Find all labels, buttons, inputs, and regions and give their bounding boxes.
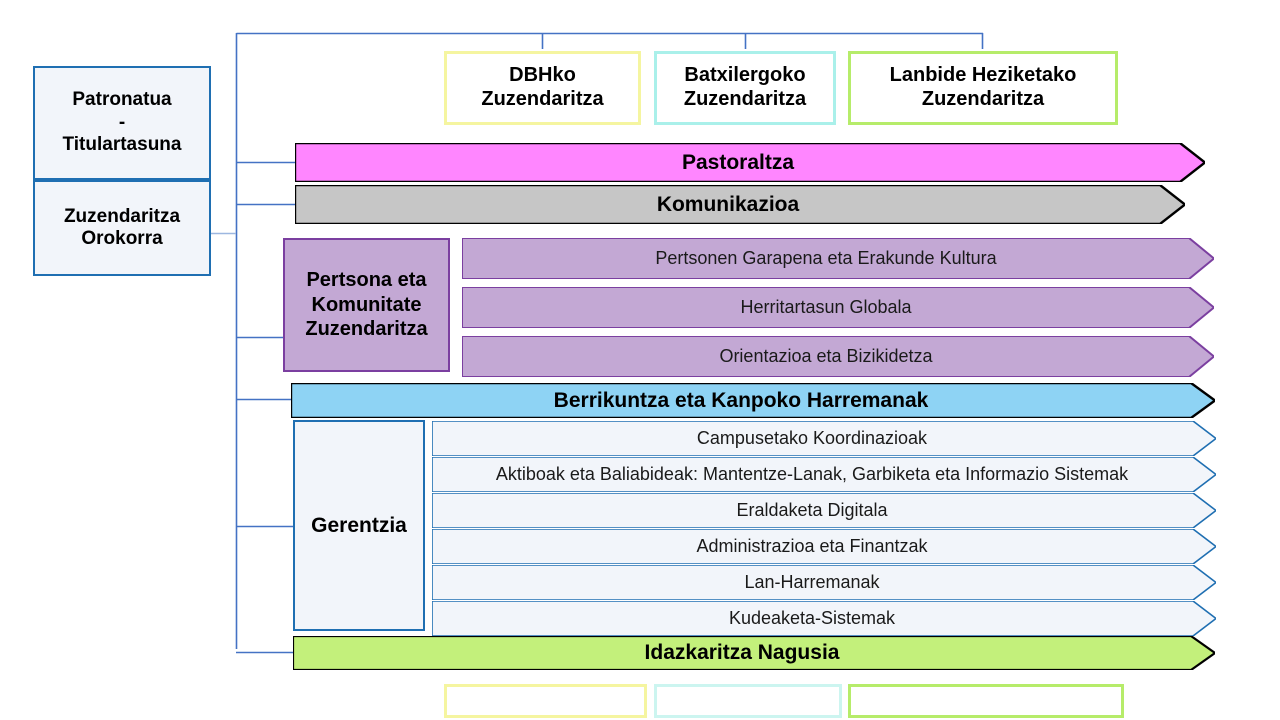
arrow-kudeaketa-sistemak[interactable]: Kudeaketa-Sistemak xyxy=(432,601,1216,636)
side-label-gerentzia-label: Gerentzia xyxy=(311,513,407,539)
gov-box-zuzendaritza-orokorra-line-2: Orokorra xyxy=(81,228,162,250)
arrow-orientazioa-bizikidetza[interactable]: Orientazioa eta Bizikidetza xyxy=(462,336,1214,377)
side-label-pertsona-komunitate-line-2: Komunitate xyxy=(312,293,422,317)
arrow-pastoraltza[interactable]: Pastoraltza xyxy=(295,143,1205,182)
arrow-berrikuntza-kanpoko-harremanak[interactable]: Berrikuntza eta Kanpoko Harremanak xyxy=(291,383,1215,418)
arrow-eraldaketa-digitala[interactable]: Eraldaketa Digitala xyxy=(432,493,1216,528)
arrow-komunikazioa-label: Komunikazioa xyxy=(295,193,1185,217)
arrow-pertsonen-garapena-label: Pertsonen Garapena eta Erakunde Kultura xyxy=(462,248,1214,269)
arrow-kudeaketa-label: Kudeaketa-Sistemak xyxy=(432,608,1216,629)
gov-box-patronatua[interactable]: Patronatua - Titulartasuna xyxy=(33,66,211,180)
school-box-batxilergo[interactable]: Batxilergoko Zuzendaritza xyxy=(654,51,836,125)
school-box-dbh-line-2: Zuzendaritza xyxy=(481,88,603,112)
gov-box-patronatua-line-2: - xyxy=(119,112,125,134)
arrow-aktiboak-label: Aktiboak eta Baliabideak: Mantentze-Lana… xyxy=(432,464,1216,485)
school-box-lanbide-heziketa[interactable]: Lanbide Heziketako Zuzendaritza xyxy=(848,51,1118,125)
school-box-batxilergo-line-2: Zuzendaritza xyxy=(684,88,806,112)
arrow-pertsonen-garapena[interactable]: Pertsonen Garapena eta Erakunde Kultura xyxy=(462,238,1214,279)
legend-box-batxilergo[interactable] xyxy=(654,684,842,718)
arrow-administrazioa-label: Administrazioa eta Finantzak xyxy=(432,536,1216,557)
arrow-pastoraltza-label: Pastoraltza xyxy=(295,151,1205,175)
gov-box-patronatua-line-3: Titulartasuna xyxy=(63,134,182,156)
school-box-batxilergo-line-1: Batxilergoko xyxy=(684,64,805,88)
arrow-aktiboak-baliabideak[interactable]: Aktiboak eta Baliabideak: Mantentze-Lana… xyxy=(432,457,1216,492)
school-box-lanbide-heziketa-line-2: Zuzendaritza xyxy=(922,88,1044,112)
side-label-pertsona-komunitate-line-3: Zuzendaritza xyxy=(305,317,427,341)
arrow-lan-harremanak-label: Lan-Harremanak xyxy=(432,572,1216,593)
arrow-lan-harremanak[interactable]: Lan-Harremanak xyxy=(432,565,1216,600)
side-label-gerentzia[interactable]: Gerentzia xyxy=(293,420,425,631)
side-label-pertsona-komunitate[interactable]: Pertsona eta Komunitate Zuzendaritza xyxy=(283,238,450,372)
legend-box-dbh[interactable] xyxy=(444,684,647,718)
school-box-lanbide-heziketa-line-1: Lanbide Heziketako xyxy=(890,64,1077,88)
legend-box-lanbide-heziketa[interactable] xyxy=(848,684,1124,718)
school-box-dbh-line-1: DBHko xyxy=(509,64,576,88)
school-box-dbh[interactable]: DBHko Zuzendaritza xyxy=(444,51,641,125)
arrow-herritartasun-globala[interactable]: Herritartasun Globala xyxy=(462,287,1214,328)
arrow-campusetako-koordinazioak[interactable]: Campusetako Koordinazioak xyxy=(432,421,1216,456)
arrow-orientazioa-bizikidetza-label: Orientazioa eta Bizikidetza xyxy=(462,346,1214,367)
org-chart-diagram: Patronatua - Titulartasuna Zuzendaritza … xyxy=(0,0,1280,720)
arrow-herritartasun-globala-label: Herritartasun Globala xyxy=(462,297,1214,318)
arrow-administrazioa-finantzak[interactable]: Administrazioa eta Finantzak xyxy=(432,529,1216,564)
arrow-idazkaritza-nagusia[interactable]: Idazkaritza Nagusia xyxy=(293,636,1215,670)
arrow-idazkaritza-label: Idazkaritza Nagusia xyxy=(293,641,1215,665)
gov-box-patronatua-line-1: Patronatua xyxy=(72,89,171,111)
gov-box-zuzendaritza-orokorra[interactable]: Zuzendaritza Orokorra xyxy=(33,180,211,276)
arrow-eraldaketa-label: Eraldaketa Digitala xyxy=(432,500,1216,521)
arrow-komunikazioa[interactable]: Komunikazioa xyxy=(295,185,1185,224)
arrow-campusetako-label: Campusetako Koordinazioak xyxy=(432,428,1216,449)
arrow-berrikuntza-label: Berrikuntza eta Kanpoko Harremanak xyxy=(291,389,1215,413)
gov-box-zuzendaritza-orokorra-line-1: Zuzendaritza xyxy=(64,206,180,228)
side-label-pertsona-komunitate-line-1: Pertsona eta xyxy=(306,268,426,292)
